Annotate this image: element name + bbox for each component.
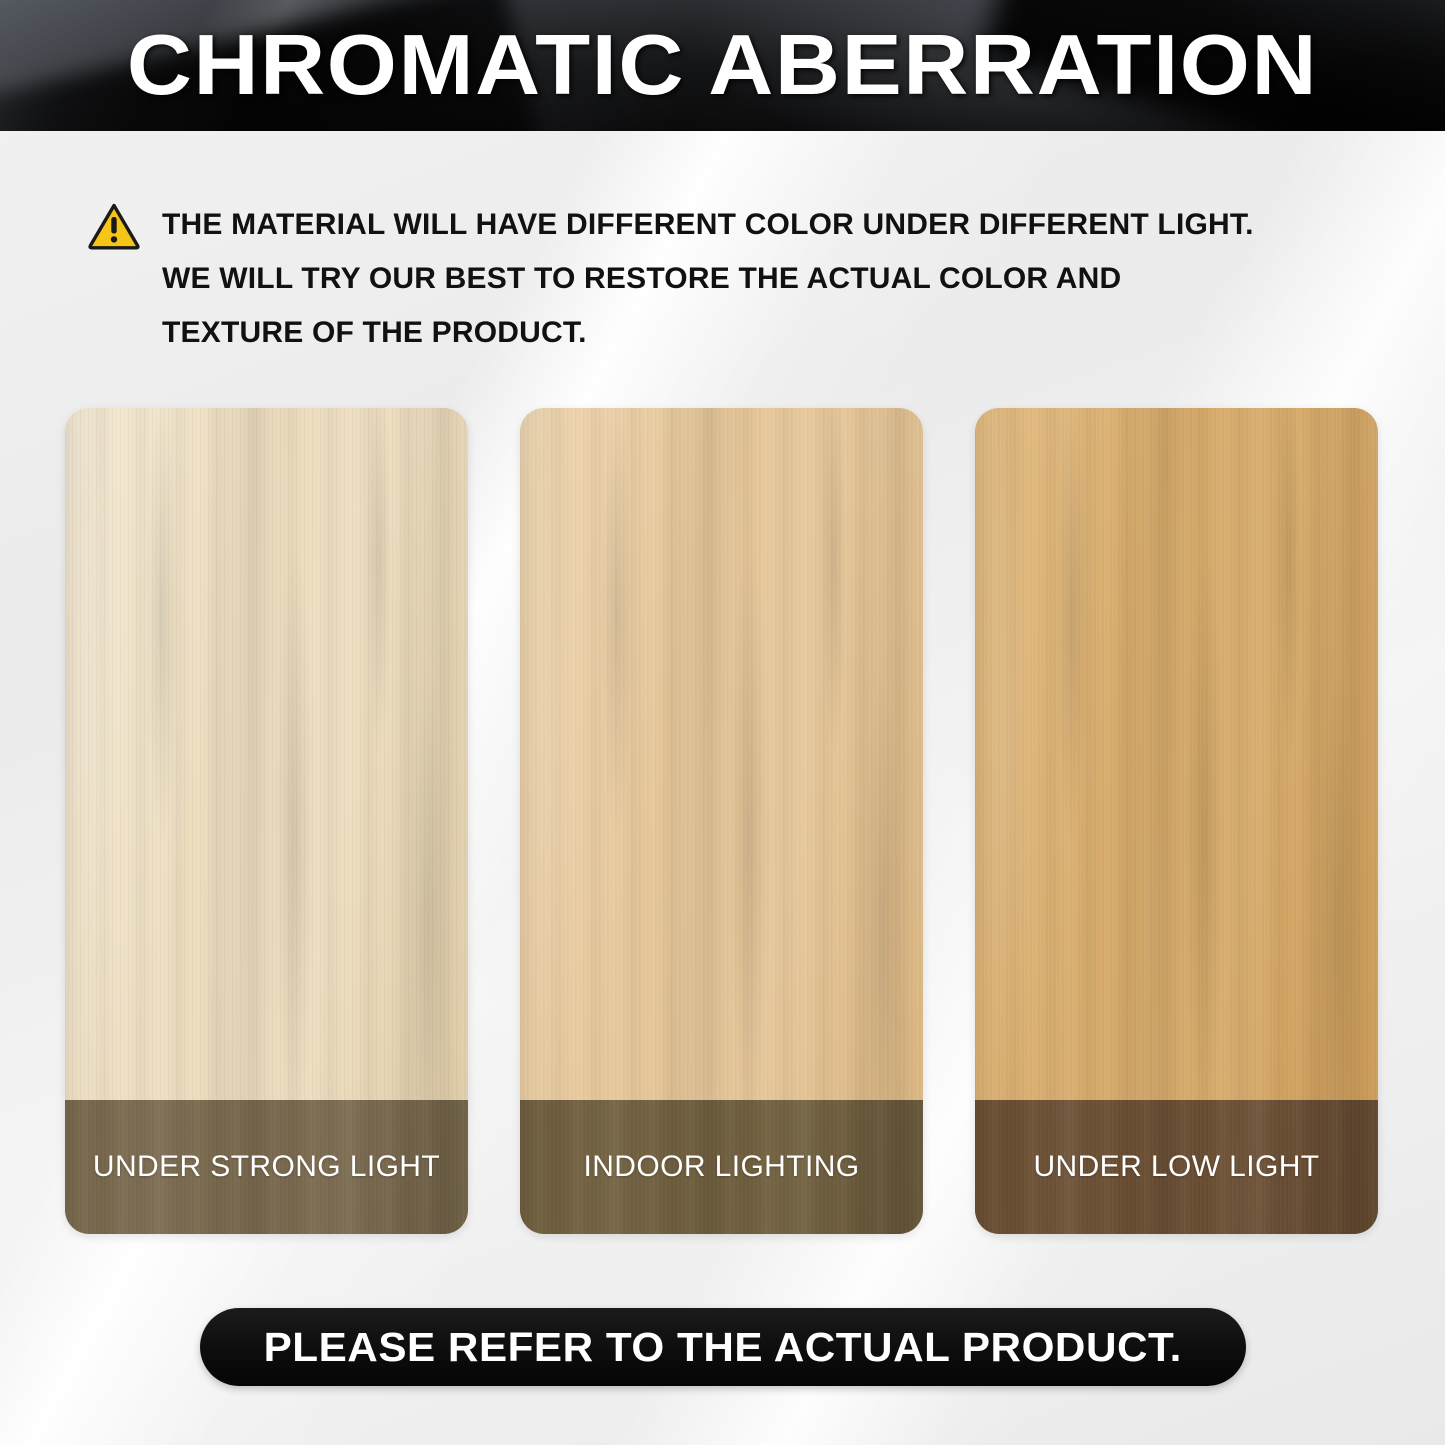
wood-swatch-under-strong-light[interactable]: UNDER STRONG LIGHT — [65, 408, 468, 1234]
wood-swatch-under-low-light[interactable]: UNDER LOW LIGHT — [975, 408, 1378, 1234]
wood-swatch-row: UNDER STRONG LIGHT INDOOR LIGHTING UNDER… — [65, 408, 1378, 1234]
wood-swatch-label: INDOOR LIGHTING — [583, 1150, 859, 1184]
warning-triangle-icon — [88, 200, 140, 252]
page-title: CHROMATIC ABERRATION — [0, 0, 1445, 131]
infographic-page: CHROMATIC ABERRATION THE MATERIAL WILL H… — [0, 0, 1445, 1445]
wood-grain-texture — [65, 408, 468, 1100]
notice-line-1: THE MATERIAL WILL HAVE DIFFERENT COLOR U… — [162, 198, 1388, 252]
notice-line-3: TEXTURE OF THE PRODUCT. — [162, 306, 1388, 360]
wood-swatch-indoor-lighting[interactable]: INDOOR LIGHTING — [520, 408, 923, 1234]
wood-grain-knots — [65, 408, 468, 1100]
chromatic-aberration-notice: THE MATERIAL WILL HAVE DIFFERENT COLOR U… — [88, 196, 1388, 360]
notice-text-block: THE MATERIAL WILL HAVE DIFFERENT COLOR U… — [162, 196, 1388, 360]
wood-surface-under-strong-light — [65, 408, 468, 1100]
footer-banner-text: PLEASE REFER TO THE ACTUAL PRODUCT. — [264, 1324, 1182, 1371]
wood-grain-knots — [975, 408, 1378, 1100]
wood-label-band-under-low-light: UNDER LOW LIGHT — [975, 1100, 1378, 1234]
wood-surface-indoor-lighting — [520, 408, 923, 1100]
wood-grain-texture — [975, 408, 1378, 1100]
wood-label-band-under-strong-light: UNDER STRONG LIGHT — [65, 1100, 468, 1234]
wood-grain-knots — [520, 408, 923, 1100]
notice-line-2: WE WILL TRY OUR BEST TO RESTORE THE ACTU… — [162, 252, 1388, 306]
wood-surface-under-low-light — [975, 408, 1378, 1100]
refer-to-actual-product-banner: PLEASE REFER TO THE ACTUAL PRODUCT. — [200, 1308, 1246, 1386]
wood-swatch-label: UNDER LOW LIGHT — [1033, 1150, 1319, 1184]
wood-label-band-indoor-lighting: INDOOR LIGHTING — [520, 1100, 923, 1234]
wood-swatch-label: UNDER STRONG LIGHT — [93, 1150, 440, 1184]
header-banner: CHROMATIC ABERRATION — [0, 0, 1445, 131]
wood-grain-texture — [520, 408, 923, 1100]
